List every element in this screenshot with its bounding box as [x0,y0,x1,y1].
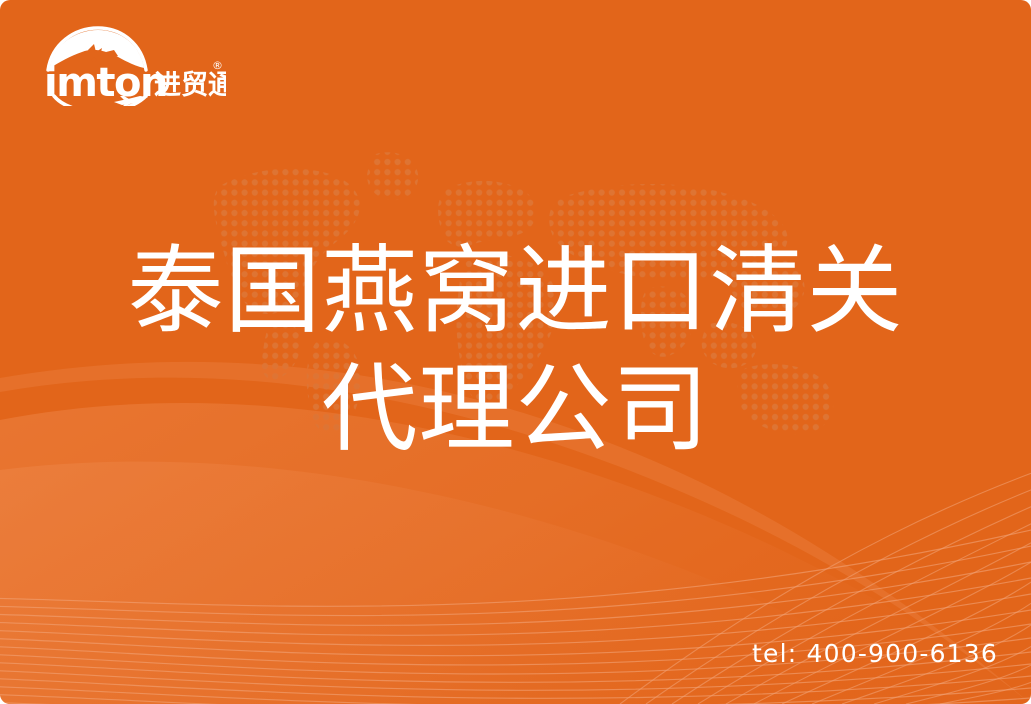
headline-line-1: 泰国燕窝进口清关 [0,232,1031,350]
logo-chinese-name: 进贸通 [154,70,226,101]
headline: 泰国燕窝进口清关 代理公司 [0,232,1031,468]
contact-phone[interactable]: tel: 400-900-6136 [752,639,998,668]
company-logo[interactable]: imton 进贸通 ® [36,26,226,106]
registered-trademark-icon: ® [212,59,223,72]
promo-banner: imton 进贸通 ® 泰国燕窝进口清关 代理公司 tel: 400-900-6… [0,0,1031,704]
logo-wordmark: imton [44,60,167,106]
headline-line-2: 代理公司 [0,350,1031,468]
